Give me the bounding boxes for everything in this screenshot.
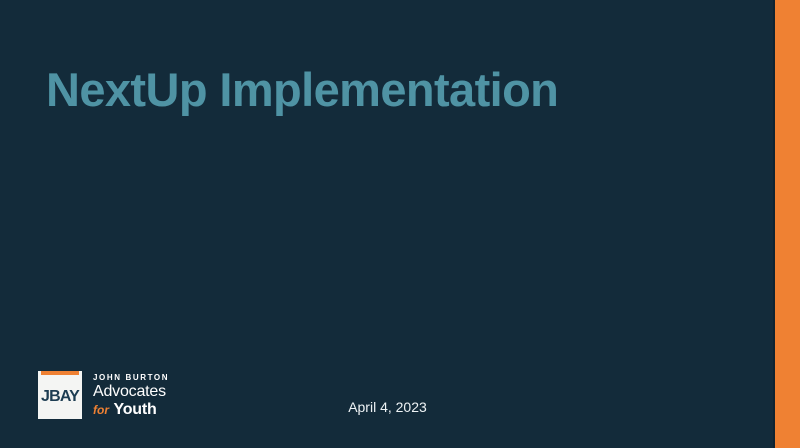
page-title: NextUp Implementation: [46, 62, 706, 118]
logo-mark-top-bar: [41, 371, 79, 375]
right-accent-bar: [775, 0, 800, 448]
slide-date: April 4, 2023: [0, 399, 775, 415]
logo-line-john-burton: JOHN BURTON: [93, 372, 169, 383]
title-slide: NextUp Implementation JBAY JOHN BURTON A…: [0, 0, 800, 448]
